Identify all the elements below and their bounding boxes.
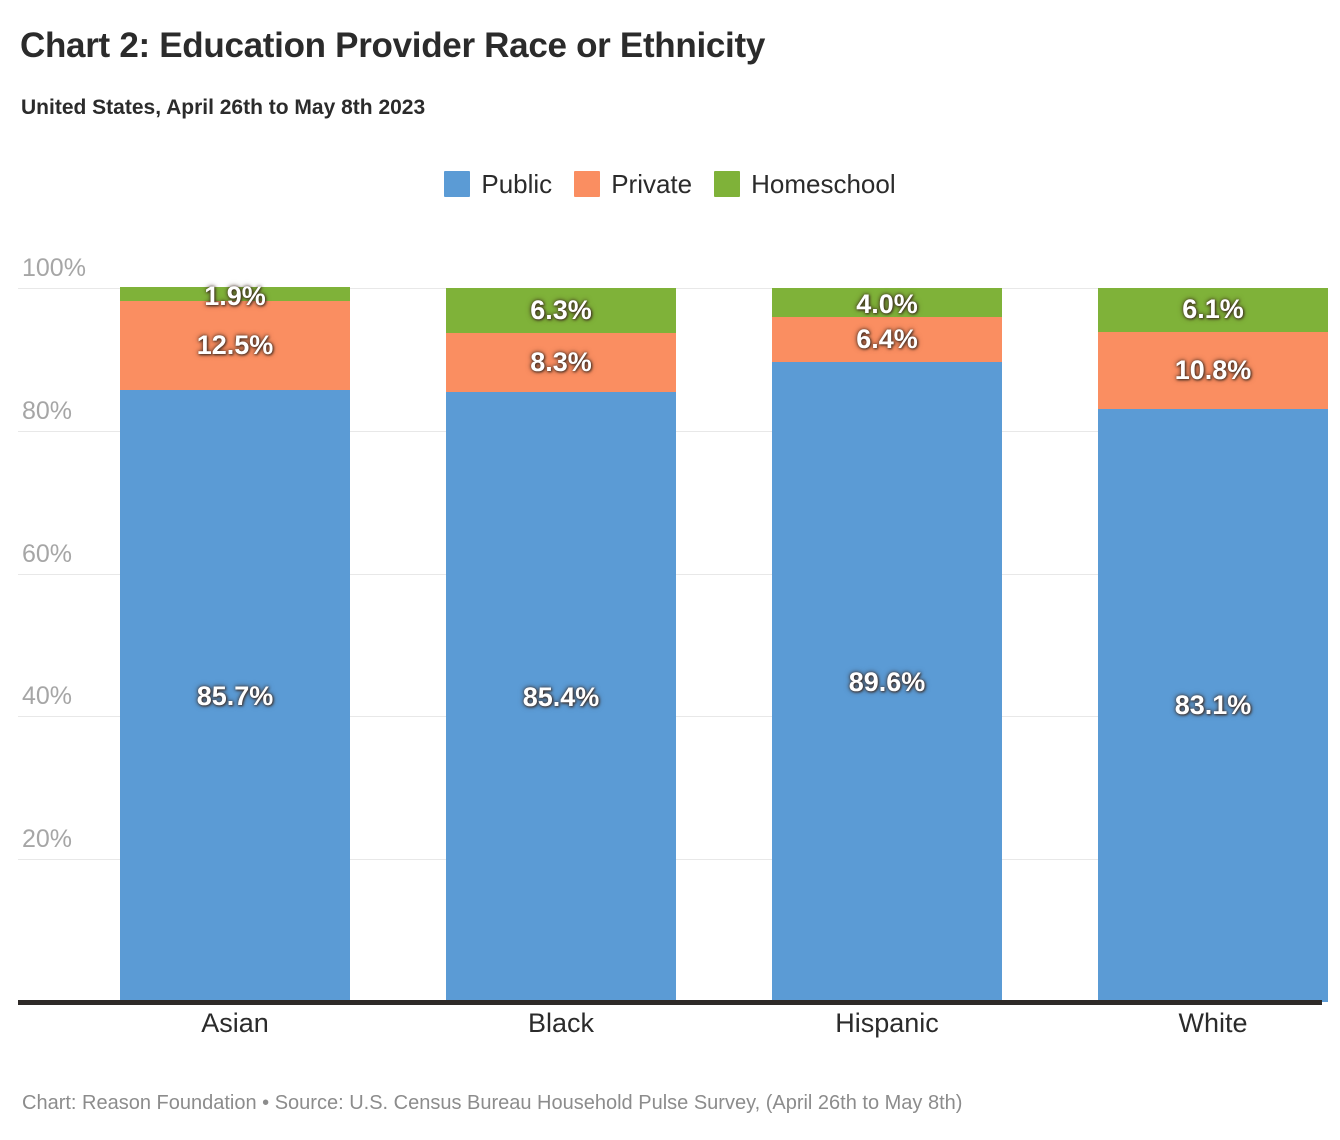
chart-subtitle: United States, April 26th to May 8th 202…: [21, 96, 425, 120]
bar-value-label: 83.1%: [1175, 690, 1252, 721]
legend-swatch-homeschool: [714, 171, 740, 197]
bar-segment-public[interactable]: 85.7%: [120, 390, 350, 1002]
y-axis-tick-label: 100%: [22, 254, 86, 288]
legend-label: Public: [481, 169, 552, 200]
legend-swatch-public: [444, 171, 470, 197]
chart-container: Chart 2: Education Provider Race or Ethn…: [0, 0, 1340, 1140]
bar-segment-private[interactable]: 12.5%: [120, 301, 350, 390]
legend-swatch-private: [574, 171, 600, 197]
legend-label: Homeschool: [751, 169, 896, 200]
x-axis-category-labels: AsianBlackHispanicWhite: [18, 1008, 1322, 1064]
x-axis-line: [18, 1000, 1322, 1005]
bar-segment-homeschool[interactable]: 6.3%: [446, 288, 676, 333]
x-axis-label-hispanic: Hispanic: [772, 1008, 1002, 1039]
bar-group-black[interactable]: 85.4%8.3%6.3%: [446, 288, 676, 1002]
bar-value-label: 6.3%: [530, 295, 592, 326]
legend-item-public[interactable]: Public: [444, 169, 552, 200]
plot-area: 100%80%60%40%20% 85.7%12.5%1.9%85.4%8.3%…: [18, 288, 1322, 1002]
bar-value-label: 10.8%: [1175, 355, 1252, 386]
footer-source-note: Chart: Reason Foundation • Source: U.S. …: [22, 1092, 962, 1115]
bar-value-label: 85.4%: [523, 682, 600, 713]
bar-stack: 85.7%12.5%1.9%: [120, 287, 350, 1002]
bar-segment-private[interactable]: 10.8%: [1098, 332, 1328, 409]
x-axis-label-black: Black: [446, 1008, 676, 1039]
bar-value-label: 8.3%: [530, 347, 592, 378]
bar-segment-homeschool[interactable]: 4.0%: [772, 288, 1002, 317]
bar-segment-public[interactable]: 85.4%: [446, 392, 676, 1002]
bar-group-asian[interactable]: 85.7%12.5%1.9%: [120, 288, 350, 1002]
page-title: Chart 2: Education Provider Race or Ethn…: [20, 26, 765, 66]
bar-stack: 89.6%6.4%4.0%: [772, 288, 1002, 1002]
legend-item-private[interactable]: Private: [574, 169, 692, 200]
legend-label: Private: [611, 169, 692, 200]
bar-stack: 83.1%10.8%6.1%: [1098, 288, 1328, 1002]
bar-group-white[interactable]: 83.1%10.8%6.1%: [1098, 288, 1328, 1002]
bar-segment-homeschool[interactable]: 1.9%: [120, 287, 350, 301]
bar-segment-private[interactable]: 6.4%: [772, 317, 1002, 363]
bar-value-label: 6.1%: [1182, 294, 1244, 325]
bar-segment-public[interactable]: 89.6%: [772, 362, 1002, 1002]
bar-value-label: 4.0%: [856, 289, 918, 320]
x-axis-label-asian: Asian: [120, 1008, 350, 1039]
x-axis-label-white: White: [1098, 1008, 1328, 1039]
legend-item-homeschool[interactable]: Homeschool: [714, 169, 896, 200]
bar-value-label: 12.5%: [197, 330, 274, 361]
bar-value-label: 85.7%: [197, 681, 274, 712]
bar-series-group: 85.7%12.5%1.9%85.4%8.3%6.3%89.6%6.4%4.0%…: [18, 288, 1322, 1002]
bar-segment-public[interactable]: 83.1%: [1098, 409, 1328, 1002]
bar-value-label: 6.4%: [856, 324, 918, 355]
chart-legend: PublicPrivateHomeschool: [0, 164, 1340, 204]
bar-group-hispanic[interactable]: 89.6%6.4%4.0%: [772, 288, 1002, 1002]
bar-segment-private[interactable]: 8.3%: [446, 333, 676, 392]
bar-value-label: 89.6%: [849, 667, 926, 698]
bar-stack: 85.4%8.3%6.3%: [446, 288, 676, 1002]
bar-segment-homeschool[interactable]: 6.1%: [1098, 288, 1328, 332]
